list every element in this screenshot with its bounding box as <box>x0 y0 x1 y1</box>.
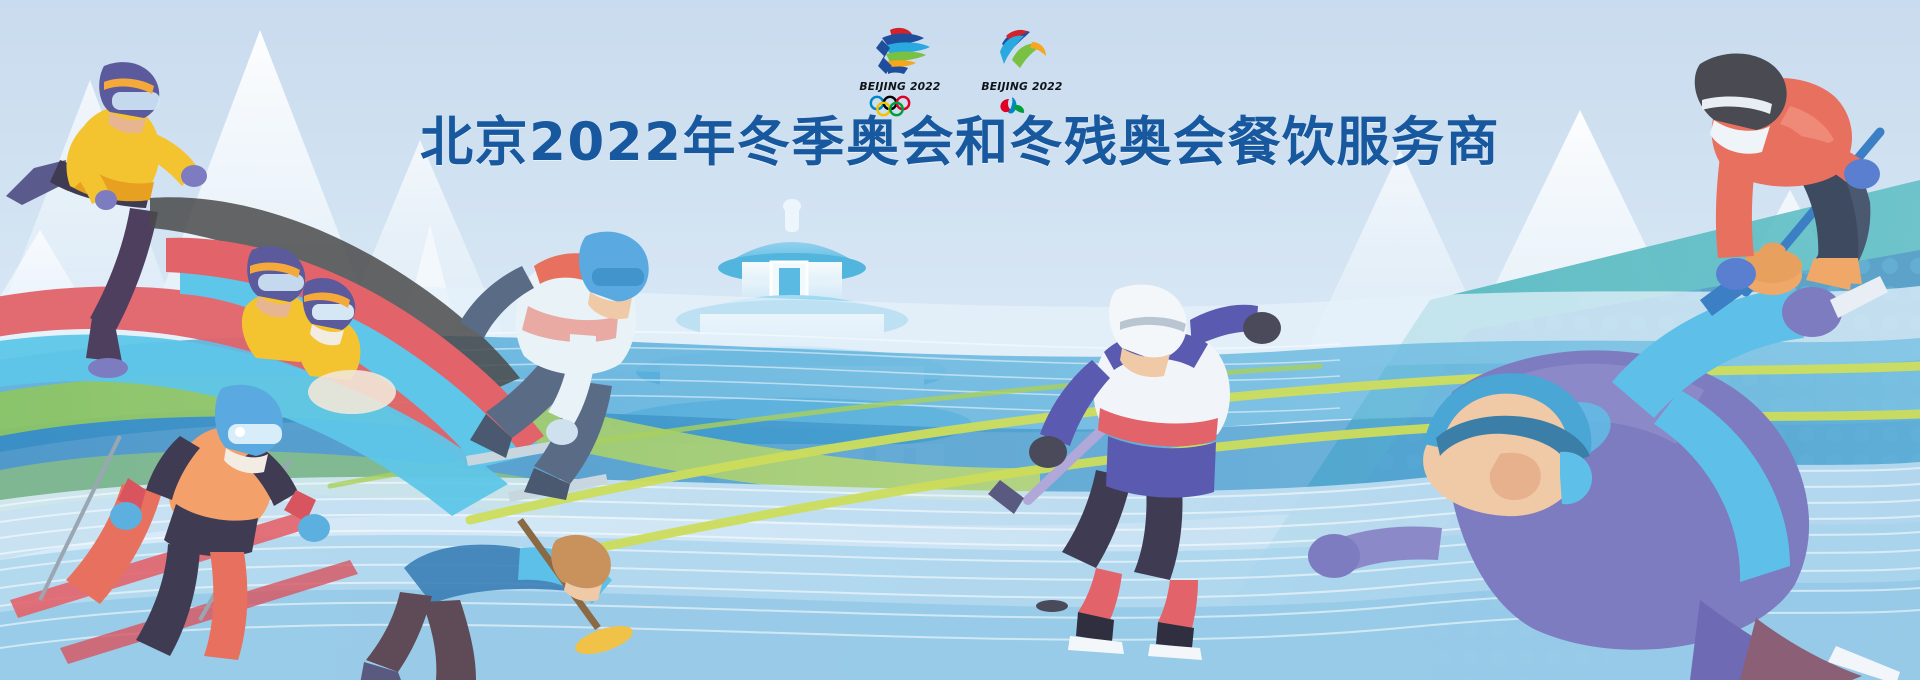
olympic-wordmark: BEIJING 2022 <box>859 81 941 93</box>
paralympic-emblem: BEIJING 2022 <box>982 24 1062 124</box>
athlete-speed-skater-large <box>1308 276 1900 680</box>
athlete-ice-hockey-player <box>988 285 1281 660</box>
paralympic-emblem-icon <box>982 24 1062 80</box>
page-title: 北京2022年冬季奥会和冬残奥会餐饮服务商 <box>0 116 1920 169</box>
emblem-group: BEIJING 2022 BEIJING 2022 <box>860 24 1060 124</box>
athlete-cross-country-skier <box>10 385 358 664</box>
paralympic-wordmark: BEIJING 2022 <box>981 81 1063 93</box>
athlete-curler-sweeper <box>360 520 636 680</box>
olympic-emblem-icon <box>860 24 940 80</box>
olympic-emblem: BEIJING 2022 <box>860 24 940 124</box>
athlete-curler-thrower <box>1695 54 1880 316</box>
beijing-2022-banner: BEIJING 2022 BEIJING 2022 <box>0 0 1920 680</box>
